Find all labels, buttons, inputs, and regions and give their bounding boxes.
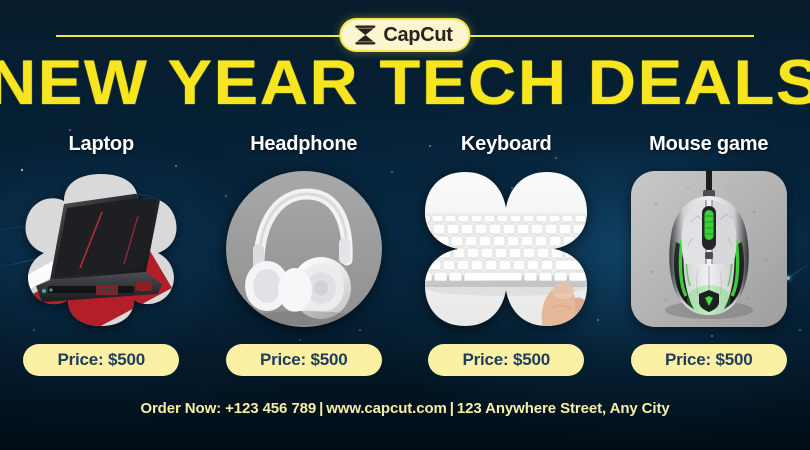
product-card-laptop[interactable]: Laptop — [0, 134, 203, 376]
footer-website[interactable]: www.capcut.com — [326, 400, 447, 417]
product-image-keyboard — [425, 168, 587, 330]
product-image-mouse — [628, 168, 790, 330]
footer-separator-2: | — [447, 400, 457, 417]
product-label: Laptop — [69, 134, 134, 154]
price-badge[interactable]: Price: $500 — [631, 344, 787, 376]
footer-separator-1: | — [316, 400, 326, 417]
price-badge[interactable]: Price: $500 — [428, 344, 584, 376]
footer-address: 123 Anywhere Street, Any City — [457, 400, 670, 417]
promo-banner: CapCut NEW YEAR TECH DEALS Laptop — [0, 0, 810, 450]
product-image-headphone — [223, 168, 385, 330]
product-card-headphone[interactable]: Headphone — [203, 134, 406, 376]
capcut-logo: CapCut — [339, 18, 470, 52]
product-card-mouse[interactable]: Mouse game — [608, 134, 810, 376]
price-badge[interactable]: Price: $500 — [23, 344, 179, 376]
product-card-keyboard[interactable]: Keyboard — [405, 134, 608, 376]
price-badge[interactable]: Price: $500 — [226, 344, 382, 376]
product-label: Headphone — [250, 134, 357, 154]
product-list: Laptop — [0, 134, 810, 376]
capcut-logo-text: CapCut — [383, 25, 452, 45]
product-label: Mouse game — [649, 134, 768, 154]
product-image-laptop — [20, 168, 182, 330]
capcut-hourglass-icon — [354, 25, 376, 45]
footer-contact-bar: Order Now: +123 456 789|www.capcut.com|1… — [0, 400, 810, 417]
product-label: Keyboard — [461, 134, 552, 154]
footer-order-phone: Order Now: +123 456 789 — [140, 400, 316, 417]
page-title: NEW YEAR TECH DEALS — [0, 52, 810, 115]
